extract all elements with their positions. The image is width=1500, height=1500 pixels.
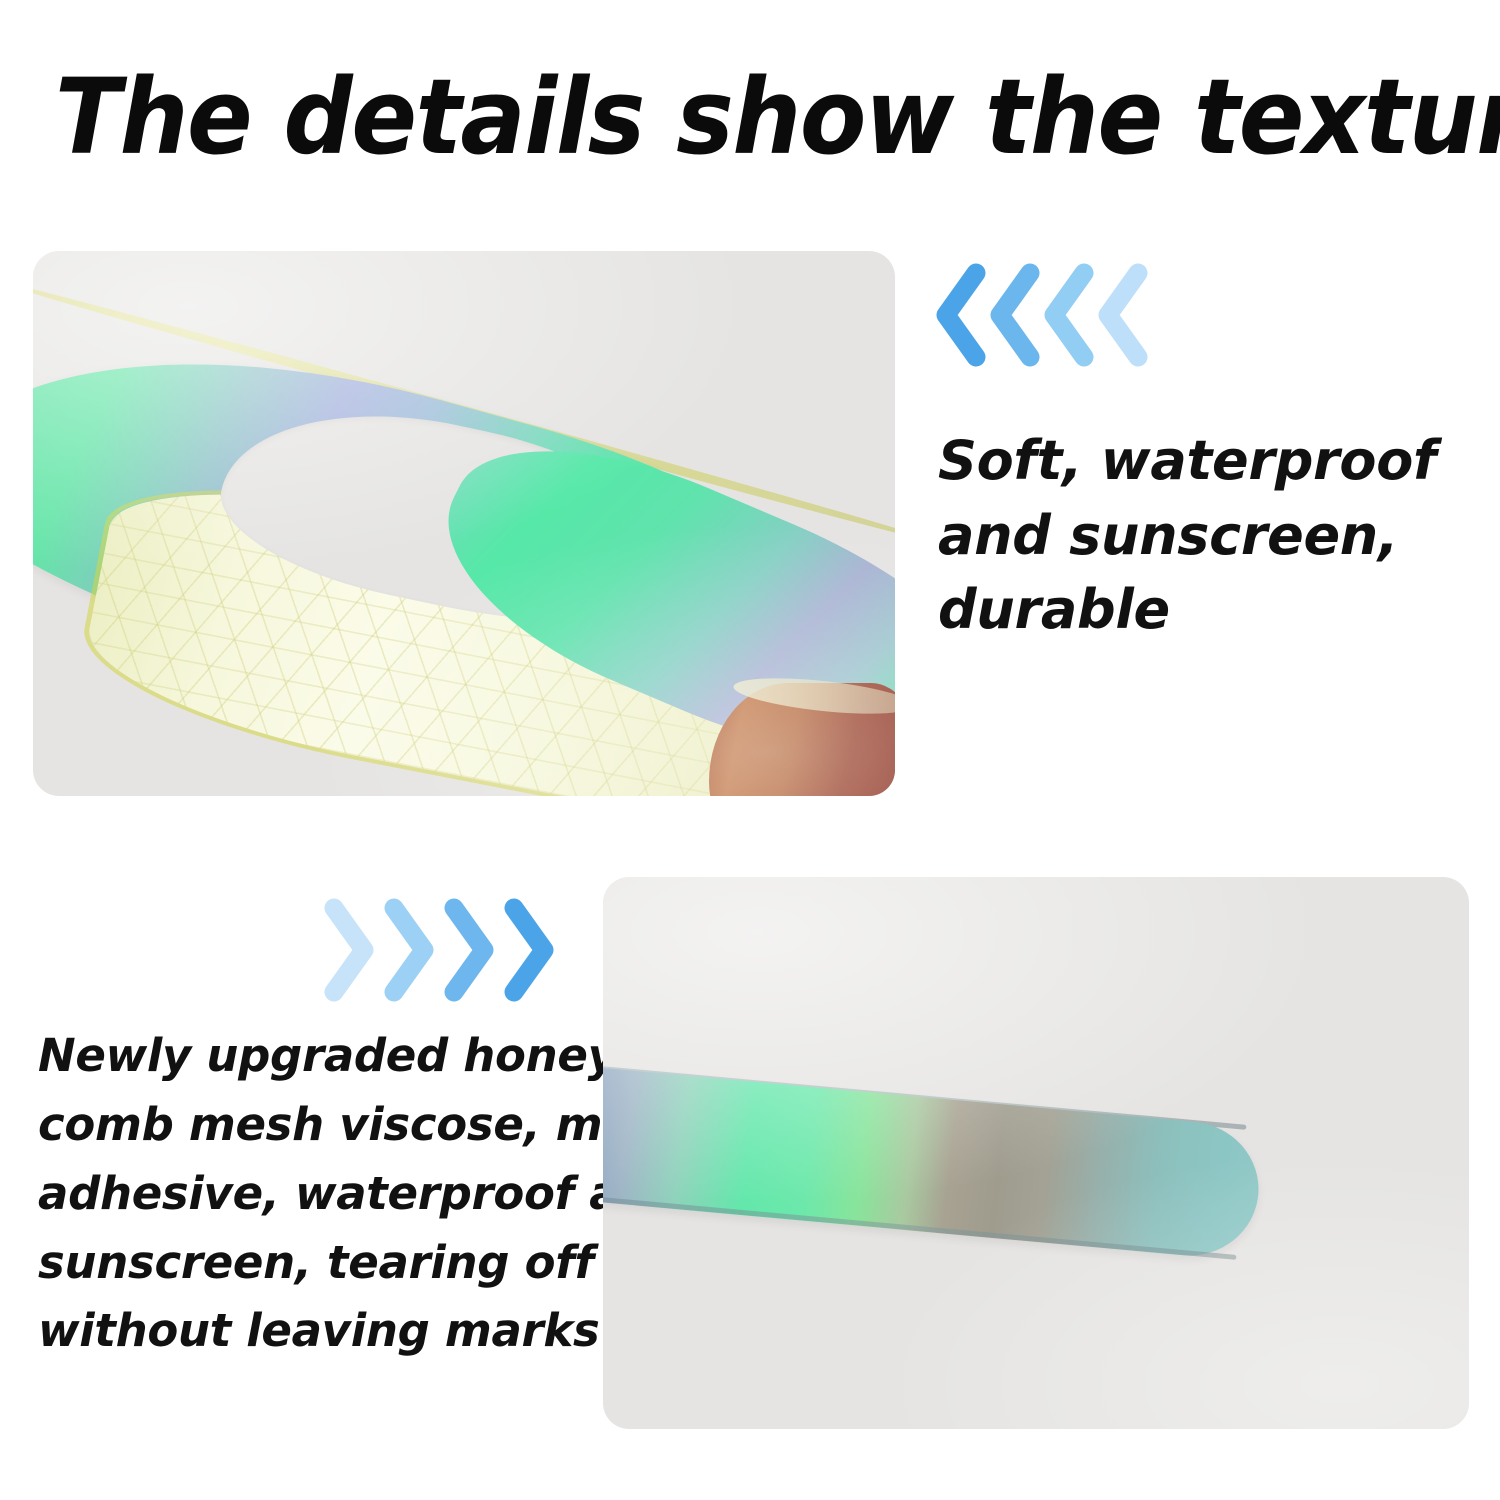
feature-text-top-line: and sunscreen, [938, 499, 1458, 574]
page-title: The details show the texture [55, 62, 1357, 172]
feature-text-bottom-line: adhesive, waterproof and [38, 1160, 586, 1229]
feature-text-bottom-line: comb mesh viscose, more [38, 1091, 586, 1160]
chevron-left-icon [930, 263, 988, 367]
infographic-page: The details show the texture Soft, water… [0, 0, 1500, 1500]
chevron-right-icon [438, 898, 496, 1002]
chevron-right-icon [378, 898, 436, 1002]
chevron-left-icon [1038, 263, 1096, 367]
looped-tape-photo [33, 251, 895, 796]
feature-text-top: Soft, waterproof and sunscreen, durable [938, 424, 1458, 648]
chevron-right-icon [318, 898, 376, 1002]
chevron-left-icon [1092, 263, 1150, 367]
straight-tape-photo [603, 877, 1469, 1429]
chevron-left-icon [984, 263, 1042, 367]
chevron-right-icon [498, 898, 556, 1002]
feature-text-bottom: Newly upgraded honey- comb mesh viscose,… [38, 1022, 586, 1366]
chevrons-pointing-left [930, 263, 1146, 367]
feature-text-top-line: durable [938, 573, 1458, 648]
feature-text-bottom-line: sunscreen, tearing off [38, 1229, 586, 1298]
feature-text-top-line: Soft, waterproof [938, 424, 1458, 499]
chevrons-pointing-right [318, 898, 558, 1002]
feature-text-bottom-line: Newly upgraded honey- [38, 1022, 586, 1091]
feature-text-bottom-line: without leaving marks [38, 1297, 586, 1366]
